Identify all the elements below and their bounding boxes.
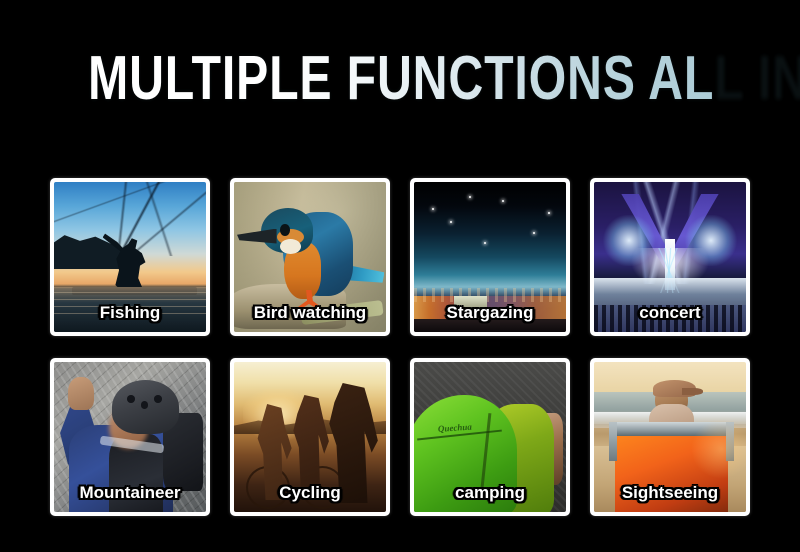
page-title: MULTIPLE FUNCTIONS ALL IN ONE: [88, 48, 712, 110]
star-dot: [502, 200, 504, 202]
tile-label: Bird watching: [230, 303, 390, 322]
star-dot: [484, 242, 486, 244]
star-dot: [432, 208, 434, 210]
climber-hand-shape: [68, 377, 94, 410]
tile-label: Stargazing: [410, 303, 570, 322]
feature-tile-camping[interactable]: Quechua camping: [410, 358, 570, 516]
beach-chair-arm-shape: [609, 422, 617, 461]
promo-banner: MULTIPLE FUNCTIONS ALL IN ONE MULTIPLE F…: [0, 0, 800, 552]
bird-throat-shape: [280, 239, 301, 254]
feature-tile-stargazing[interactable]: Stargazing: [410, 178, 570, 336]
tile-label: camping: [410, 483, 570, 502]
helmet-vent-shape: [141, 401, 149, 409]
feature-tile-sightseeing[interactable]: Sightseeing: [590, 358, 750, 516]
feature-tile-bird-watching[interactable]: Bird watching: [230, 178, 390, 336]
cap-brim-shape: [682, 388, 703, 396]
tile-label: Sightseeing: [590, 483, 750, 502]
helmet-vent-shape: [154, 395, 162, 403]
star-dot: [469, 196, 471, 198]
feature-tile-concert[interactable]: concert: [590, 178, 750, 336]
tile-label: concert: [590, 303, 750, 322]
feature-tile-grid: Fishing Bird watching: [50, 178, 750, 516]
feature-tile-mountaineer[interactable]: Mountaineer: [50, 358, 210, 516]
helmet-vent-shape: [127, 395, 135, 403]
feature-tile-fishing[interactable]: Fishing: [50, 178, 210, 336]
bird-eye-shape: [280, 224, 291, 236]
star-dot: [533, 232, 535, 234]
tile-label: Mountaineer: [50, 483, 210, 502]
star-dot: [548, 212, 550, 214]
sunlight-glow-shape: [691, 419, 746, 479]
feature-tile-cycling[interactable]: Cycling: [230, 358, 390, 516]
star-dot: [450, 221, 452, 223]
tile-label: Fishing: [50, 303, 210, 322]
tile-label: Cycling: [230, 483, 390, 502]
